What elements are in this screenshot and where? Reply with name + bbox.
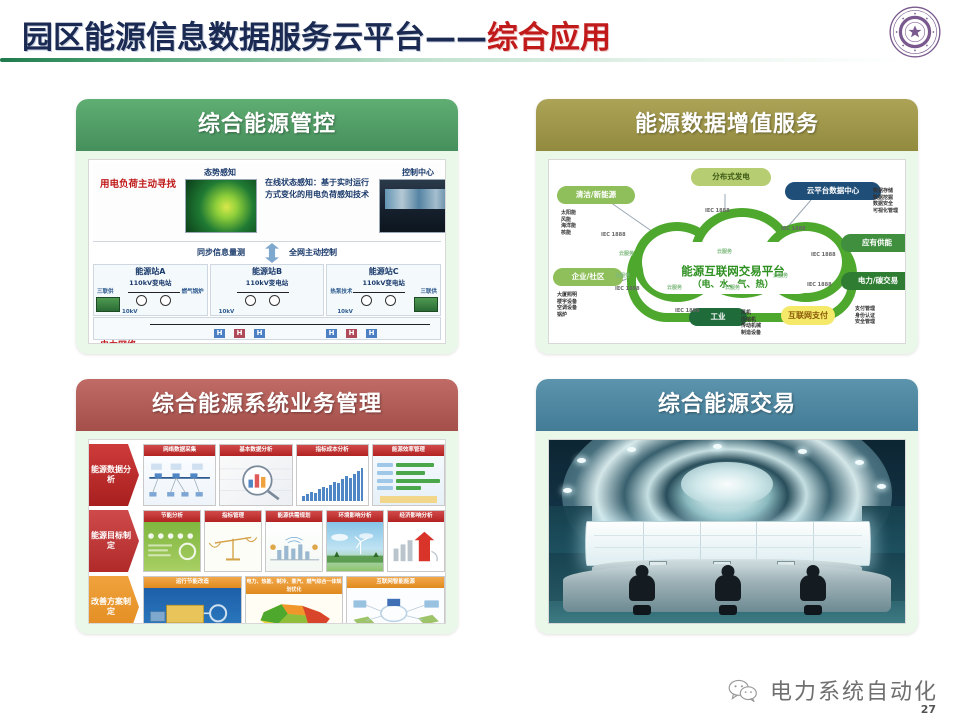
protocol-label: IEC 1888 (807, 282, 832, 288)
cell-title: 能源效率管理 (373, 445, 444, 456)
wechat-icon (726, 677, 760, 703)
page-number: 27 (921, 703, 936, 716)
node-enterprise-community[interactable]: 企业/社区 (553, 268, 623, 286)
node-industry-detail: 风机压缩机传动机械制造设备 (741, 310, 761, 336)
cell-art-growth-arrow (388, 522, 444, 571)
ceiling-center-light (681, 462, 773, 506)
cell-art-city (266, 522, 322, 571)
panel-1-body: 用电负荷主动寻找 态势感知 在线状态感知：基于实时运行方式变化的用电负荷感知技术… (76, 151, 458, 354)
protocol-label: IEC 1888 (781, 226, 806, 232)
grid-node-icon: H (346, 329, 357, 338)
station-a-sub: 110kV变电站 (94, 277, 207, 287)
row-3-cells: 运行节能改造 电力、热能、制冷、蒸汽、燃气综合一体 (139, 576, 445, 624)
slide-header: 园区能源信息数据服务云平台——综合应用 (0, 0, 960, 62)
station-b-sub: 110kV变电站 (211, 277, 324, 287)
panel-1-title: 综合能源管控 (76, 99, 458, 151)
cell-title: 经济影响分析 (388, 511, 444, 522)
protocol-label: IEC 1888 (705, 208, 730, 214)
panel-2-title: 能源数据增值服务 (536, 99, 918, 151)
grid-node-icon: H (214, 329, 225, 338)
cell-energy-efficiency-mgmt[interactable]: 能源效率管理 (372, 444, 445, 506)
protocol-label: IEC 1888 (601, 232, 626, 238)
operator-person (798, 565, 828, 607)
sync-measure-label: 同步信息量测 (197, 247, 245, 258)
transformer-icon (245, 295, 256, 306)
panel-integrated-energy-control[interactable]: 综合能源管控 用电负荷主动寻找 态势感知 在线状态感知：基于实时运行方式变化的用… (76, 99, 458, 354)
row-1-cells: 网络数据采集 (139, 444, 445, 506)
protocol-label: IEC 1888 (615, 286, 640, 292)
internet-payment-badge[interactable]: 互联网支付 (781, 306, 835, 325)
cell-title: 电力、热能、制冷、蒸汽、燃气综合一体规划优化 (246, 577, 343, 594)
sync-control-strip: 同步信息量测 全网主动控制 (93, 242, 441, 264)
station-c-tag-1: 三联供 (421, 287, 438, 295)
panel-3-title: 综合能源系统业务管理 (76, 379, 458, 431)
cell-environment-impact[interactable]: 环境影响分析 (326, 510, 384, 572)
title-divider (0, 58, 905, 62)
cell-economic-impact[interactable]: 经济影响分析 (387, 510, 445, 572)
cell-title: 基本数据分析 (220, 445, 291, 456)
footer-brand: 电力系统自动化 (726, 674, 938, 706)
row-label-energy-target: 能源目标制定 (89, 510, 139, 572)
cell-title: 环境影响分析 (327, 511, 383, 522)
transformer-icon (160, 295, 171, 306)
node-clean-energy[interactable]: 清洁/新能源 (557, 186, 635, 204)
panel-3-matrix: 能源数据分析 网络数据采集 (88, 439, 446, 624)
situation-awareness-label: 态势感知 (185, 167, 255, 178)
energy-station-c[interactable]: 能源站C 110kV变电站 热泵技术 三联供 10kV (326, 264, 441, 316)
cell-indicator-cost-analysis[interactable]: 指标成本分析 (296, 444, 369, 506)
power-grid-label: 电力网络 (100, 338, 136, 344)
node-distributed-generation[interactable]: 分布式发电 (691, 168, 771, 186)
grid-busbar (150, 324, 430, 325)
perception-strip: 用电负荷主动寻找 态势感知 在线状态感知：基于实时运行方式变化的用电负荷感知技术… (93, 163, 441, 242)
cell-art-equipment (144, 588, 241, 624)
cell-title: 网络数据采集 (144, 445, 215, 456)
cell-title: 指标管理 (205, 511, 261, 522)
load-label-1: 商业负荷B (224, 342, 253, 344)
protocol-label: IEC 1888 (675, 308, 700, 314)
payment-detail: 支付管理身份认证安全管理 (855, 306, 875, 326)
panel-4-title: 综合能源交易 (536, 379, 918, 431)
panel-business-management[interactable]: 综合能源系统业务管理 能源数据分析 网络数据采集 (76, 379, 458, 634)
load-label-2: 居住负荷A (298, 342, 327, 344)
panel-integrated-energy-trading[interactable]: 综合能源交易 (536, 379, 918, 634)
operator-person (713, 565, 743, 607)
cell-operation-retrofit[interactable]: 运行节能改造 (143, 576, 242, 624)
cell-supply-demand-planning[interactable]: 能源供需规划 (265, 510, 323, 572)
station-b-name: 能源站B (211, 266, 324, 277)
cloud-service-label: 云服务 (615, 272, 630, 279)
ceiling-spot-light (563, 488, 572, 493)
control-room-photo (549, 440, 905, 623)
cell-energy-saving-analysis[interactable]: 节能分析 (143, 510, 201, 572)
cloud-service-label: 云服务 (667, 284, 682, 291)
platform-title: 能源互联网交易平台 (627, 264, 839, 278)
operator-person (627, 565, 657, 607)
footer-brand-text: 电力系统自动化 (770, 674, 938, 706)
node-cloud-data-center-detail: 数据存储数据挖掘数据安全可视化管理 (873, 188, 905, 214)
grid-node-icon: H (234, 329, 245, 338)
panel-2-body: 能源互联网交易平台 （电、水、气、热） 清洁/新能源 太阳能风能海洋能核能 分布… (536, 151, 918, 354)
bidirectional-arrow-icon (265, 243, 279, 263)
cell-title: 互联网智能能源 (347, 577, 444, 588)
energy-stations-row: 能源站A 110kV变电站 三联供 燃气锅炉 10kV 能源站B 110kV变电… (93, 264, 441, 316)
busbar (353, 292, 405, 293)
bar-chart (302, 467, 363, 501)
brain-thumbnail (185, 179, 257, 233)
cell-art-iot (347, 588, 444, 624)
energy-station-b[interactable]: 能源站B 110kV变电站 10kV (210, 264, 325, 316)
cell-integrated-planning[interactable]: 电力、热能、制冷、蒸汽、燃气综合一体规划优化 (245, 576, 344, 624)
cell-internet-smart-energy[interactable]: 互联网智能能源 (346, 576, 445, 624)
page-title-main: 园区能源信息数据服务云平台—— (22, 20, 487, 56)
generator-icon (414, 297, 438, 312)
cell-art-kpi (373, 456, 444, 505)
node-clean-energy-detail: 太阳能风能海洋能核能 (561, 210, 576, 236)
control-center-thumbnail (379, 179, 446, 233)
online-perception-text: 在线状态感知：基于实时运行方式变化的用电负荷感知技术 (263, 177, 371, 201)
load-label-0: 商业负荷A (178, 342, 207, 344)
generator-icon (96, 297, 120, 312)
panel-2-diagram: 能源互联网交易平台 （电、水、气、热） 清洁/新能源 太阳能风能海洋能核能 分布… (548, 159, 906, 344)
panel-energy-data-value-service[interactable]: 能源数据增值服务 (536, 99, 918, 354)
cell-title: 指标成本分析 (297, 445, 368, 456)
node-power-carbon-trade[interactable]: 电力/碳交易 (841, 272, 906, 290)
transformer-icon (136, 295, 147, 306)
cell-basic-data-analysis[interactable]: 基本数据分析 (219, 444, 292, 506)
row-label-energy-data-analysis: 能源数据分析 (89, 444, 139, 506)
page-title: 园区能源信息数据服务云平台——综合应用 (22, 12, 611, 57)
cell-art-bars (297, 456, 368, 505)
energy-station-a[interactable]: 能源站A 110kV变电站 三联供 燃气锅炉 10kV (93, 264, 208, 316)
station-c-name: 能源站C (327, 266, 440, 277)
grid-node-icon: H (326, 329, 337, 338)
global-control-label: 全网主动控制 (289, 247, 337, 258)
cloud-service-label: 云服务 (619, 250, 634, 257)
transformer-icon (361, 295, 372, 306)
cell-art-green-panel (144, 522, 200, 571)
cloud-service-label: 云服务 (773, 272, 788, 279)
ceiling-spot-light (713, 444, 722, 449)
cell-art-china-map (246, 594, 343, 624)
cell-art-network (144, 456, 215, 505)
cell-art-magnifier (220, 456, 291, 505)
station-a-tag-2: 10kV (122, 309, 138, 315)
cloud-service-label: 云服务 (717, 248, 732, 255)
transformer-icon (385, 295, 396, 306)
control-center-label: 控制中心 (379, 167, 446, 178)
busbar (237, 292, 289, 293)
station-c-tag-0: 热泵技术 (330, 287, 352, 295)
panel-1-diagram: 用电负荷主动寻找 态势感知 在线状态感知：基于实时运行方式变化的用电负荷感知技术… (88, 159, 446, 344)
row-2-cells: 节能分析 (139, 510, 445, 572)
power-grid-area: 电力网络 H H H H H H 商业负荷A 商业负荷B 居住负荷A 居住负荷B… (93, 317, 441, 340)
load-label-3: 居住负荷B (352, 342, 381, 344)
row-improvement-plan: 改善方案制定 运行节能改造 (89, 576, 445, 624)
demand-seek-label: 用电负荷主动寻找 (99, 177, 177, 192)
cell-title: 节能分析 (144, 511, 200, 522)
station-b-tag-0: 10kV (219, 309, 235, 315)
station-a-name: 能源站A (94, 266, 207, 277)
cell-network-data-collection[interactable]: 网络数据采集 (143, 444, 216, 506)
cell-title: 运行节能改造 (144, 577, 241, 588)
station-c-tag-2: 10kV (337, 309, 353, 315)
cloud-service-label: 云服务 (725, 284, 740, 291)
busbar (128, 292, 180, 293)
node-cloud-data-center[interactable]: 云平台数据中心 (785, 182, 881, 200)
cell-indicator-management[interactable]: 指标管理 (204, 510, 262, 572)
panel-4-body (536, 431, 918, 634)
row-label-improvement-plan: 改善方案制定 (89, 576, 139, 624)
row-energy-data-analysis: 能源数据分析 网络数据采集 (89, 444, 445, 506)
station-c-sub: 110kV变电站 (327, 277, 440, 287)
station-a-tag-0: 三联供 (97, 287, 114, 295)
university-seal-logo (888, 5, 942, 59)
cell-art-balance (205, 522, 261, 571)
station-a-tag-1: 燃气锅炉 (182, 287, 204, 295)
transformer-icon (269, 295, 280, 306)
panel-4-photo-frame (548, 439, 906, 624)
cloud-platform-diagram: 能源互联网交易平台 （电、水、气、热） 清洁/新能源 太阳能风能海洋能核能 分布… (549, 160, 905, 343)
ceiling-spot-light (877, 484, 886, 489)
cell-art-sky (327, 522, 383, 571)
row-energy-target-setting: 能源目标制定 节能分析 (89, 510, 445, 572)
grid-node-icon: H (366, 329, 377, 338)
page-title-accent: 综合应用 (487, 20, 611, 56)
node-existing-supply[interactable]: 应有供能 (841, 234, 906, 252)
grid-node-icon: H (254, 329, 265, 338)
protocol-label: IEC 1888 (811, 252, 836, 258)
panel-3-body: 能源数据分析 网络数据采集 (76, 431, 458, 634)
node-enterprise-detail: 大厦照明楼宇设备空调设备锅炉 (557, 292, 577, 318)
cell-title: 能源供需规划 (266, 511, 322, 522)
